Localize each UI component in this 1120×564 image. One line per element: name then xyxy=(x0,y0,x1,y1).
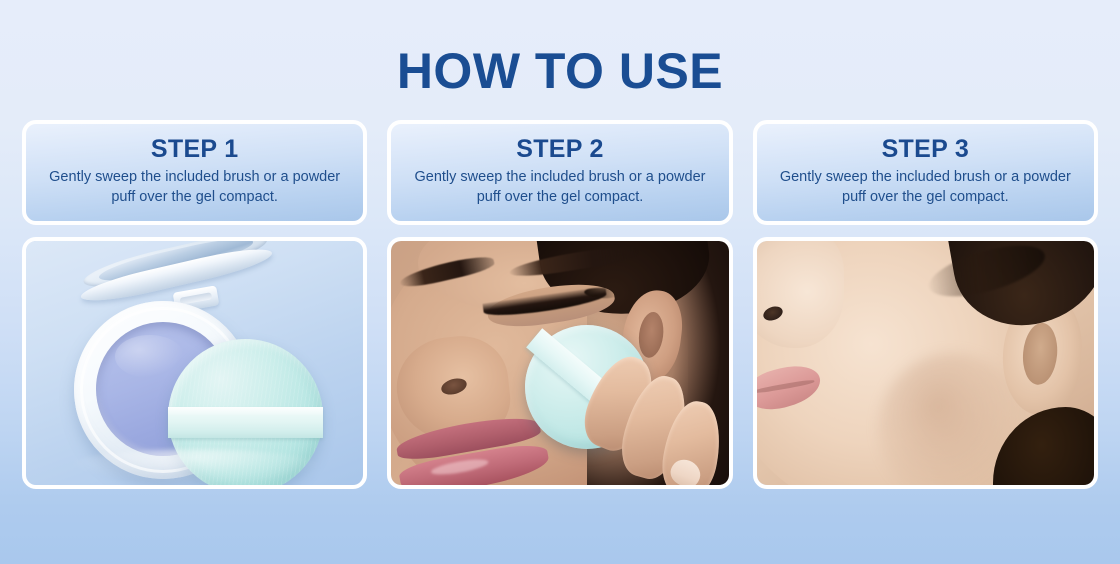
step-label-3: STEP 3 xyxy=(882,136,970,164)
step-image-card-3 xyxy=(753,237,1098,489)
compact-stage xyxy=(26,241,363,485)
step-text-card-3: STEP 3 Gently sweep the included brush o… xyxy=(753,120,1098,225)
step-column-1: STEP 1 Gently sweep the included brush o… xyxy=(22,120,367,489)
woman-applying-powder-puff-to-cheek-photo xyxy=(391,241,728,485)
how-to-use-page: HOW TO USE STEP 1 Gently sweep the inclu… xyxy=(0,0,1120,564)
step-text-card-1: STEP 1 Gently sweep the included brush o… xyxy=(22,120,367,225)
gel-compact-with-powder-puff-product-photo xyxy=(26,241,363,485)
step-column-2: STEP 2 Gently sweep the included brush o… xyxy=(387,120,732,489)
model-hand xyxy=(583,349,729,485)
step-label-1: STEP 1 xyxy=(151,136,239,164)
steps-grid: STEP 1 Gently sweep the included brush o… xyxy=(0,120,1120,489)
result-scene xyxy=(757,241,1094,485)
page-title: HOW TO USE xyxy=(0,44,1120,98)
step-image-card-2 xyxy=(387,237,732,489)
step-column-3: STEP 3 Gently sweep the included brush o… xyxy=(753,120,1098,489)
step-label-2: STEP 2 xyxy=(516,136,604,164)
powder-puff-ribbon-band xyxy=(168,407,323,438)
step-description-2: Gently sweep the included brush or a pow… xyxy=(410,167,710,207)
step-description-3: Gently sweep the included brush or a pow… xyxy=(775,167,1075,207)
step-text-card-2: STEP 2 Gently sweep the included brush o… xyxy=(387,120,732,225)
model-fingernail xyxy=(666,455,705,485)
step-description-1: Gently sweep the included brush or a pow… xyxy=(45,167,345,207)
compact-scene xyxy=(26,241,363,485)
apply-scene xyxy=(391,241,728,485)
page-title-container: HOW TO USE xyxy=(0,0,1120,98)
smooth-finished-skin-result-photo xyxy=(757,241,1094,485)
compact-surface-reflection xyxy=(70,449,320,483)
step-image-card-1 xyxy=(22,237,367,489)
